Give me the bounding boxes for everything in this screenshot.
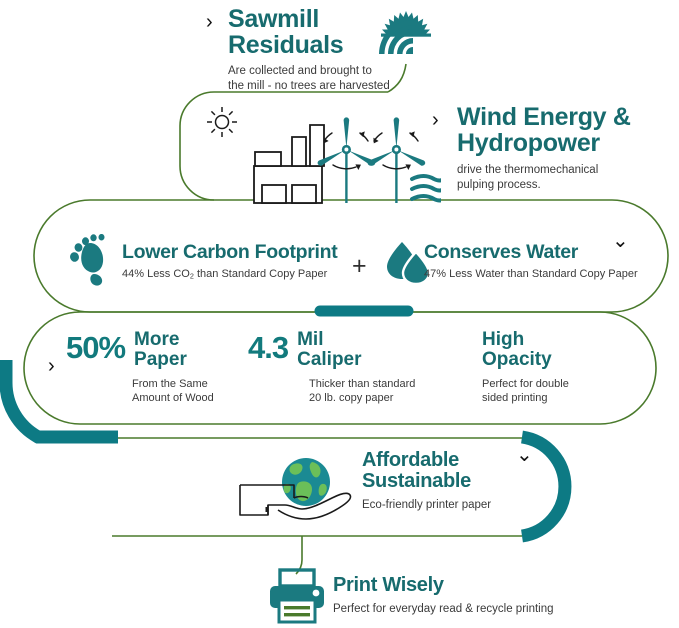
more-paper-number: 50%	[66, 330, 125, 366]
step-affordable-sustainable: Affordable Sustainable Eco-friendly prin…	[362, 450, 491, 512]
flow-path-graphic	[0, 0, 679, 628]
wind-turbine-icon-1	[318, 117, 376, 203]
chevron-down-icon-affordable: ⌄	[516, 442, 533, 467]
step-sawmill-residuals: Sawmill Residuals Are collected and brou…	[228, 6, 390, 93]
path-sawmill-stem	[388, 64, 406, 92]
chevron-right-icon-sawmill: ›	[206, 11, 213, 34]
benefit-conserves-water: Conserves Water 47% Less Water than Stan…	[424, 242, 638, 281]
chevron-right-icon-stats: ›	[48, 355, 55, 378]
high-opacity-label: High Opacity	[482, 330, 569, 370]
wind-turbine-icon-2	[368, 117, 426, 203]
step-print-wisely: Print Wisely Perfect for everyday read &…	[333, 575, 554, 617]
printer-indicator-dot	[313, 590, 320, 597]
sun-icon	[207, 107, 237, 137]
sawmill-title: Sawmill Residuals	[228, 6, 390, 58]
carbon-subtext: 44% Less CO2 than Standard Copy Paper	[122, 267, 337, 281]
circular-saw-blade-icon	[375, 6, 437, 64]
stat-high-opacity: High Opacity Perfect for double sided pr…	[482, 330, 569, 405]
printer-paper-tray	[280, 570, 314, 586]
step-wind-energy-hydropower: Wind Energy & Hydropower drive the therm…	[457, 104, 631, 192]
affordable-subtext: Eco-friendly printer paper	[362, 498, 491, 513]
benefit-lower-carbon-footprint: Lower Carbon Footprint 44% Less CO2 than…	[122, 242, 337, 281]
mil-caliper-subtext: Thicker than standard 20 lb. copy paper	[309, 377, 415, 405]
mil-caliper-number: 4.3	[248, 330, 288, 366]
wind-title: Wind Energy & Hydropower	[457, 104, 631, 156]
printer-icon	[268, 568, 326, 624]
high-opacity-subtext: Perfect for double sided printing	[482, 377, 569, 405]
infographic-canvas: › Sawmill Residuals Are collected and br…	[0, 0, 679, 628]
carbon-title: Lower Carbon Footprint	[122, 242, 337, 262]
chevron-down-icon-water: ⌄	[612, 228, 629, 253]
factory-wind-turbines-icon	[196, 103, 441, 208]
print-subtext: Perfect for everyday read & recycle prin…	[333, 602, 554, 617]
water-subtext: 47% Less Water than Standard Copy Paper	[424, 267, 638, 281]
water-title: Conserves Water	[424, 242, 638, 262]
printer-output-sheet	[279, 600, 315, 622]
stat-mil-caliper: 4.3 Mil Caliper Thicker than standard 20…	[248, 330, 415, 405]
plus-symbol: +	[352, 252, 367, 281]
wind-subtext: drive the thermomechanical pulping proce…	[457, 163, 631, 192]
more-paper-subtext: From the Same Amount of Wood	[132, 377, 214, 405]
stat-more-paper: 50% More Paper From the Same Amount of W…	[66, 330, 214, 405]
sawmill-subtext: Are collected and brought to the mill - …	[228, 64, 390, 93]
water-waves-icon	[412, 176, 441, 201]
cuff-mark	[266, 507, 269, 512]
globe-in-hand-icon	[238, 452, 360, 528]
print-title: Print Wisely	[333, 575, 554, 596]
affordable-title: Affordable Sustainable	[362, 450, 491, 492]
footprint-icon	[60, 234, 112, 286]
factory-icon	[254, 125, 324, 203]
mil-caliper-label: Mil Caliper	[297, 330, 361, 370]
more-paper-label: More Paper	[134, 330, 187, 370]
